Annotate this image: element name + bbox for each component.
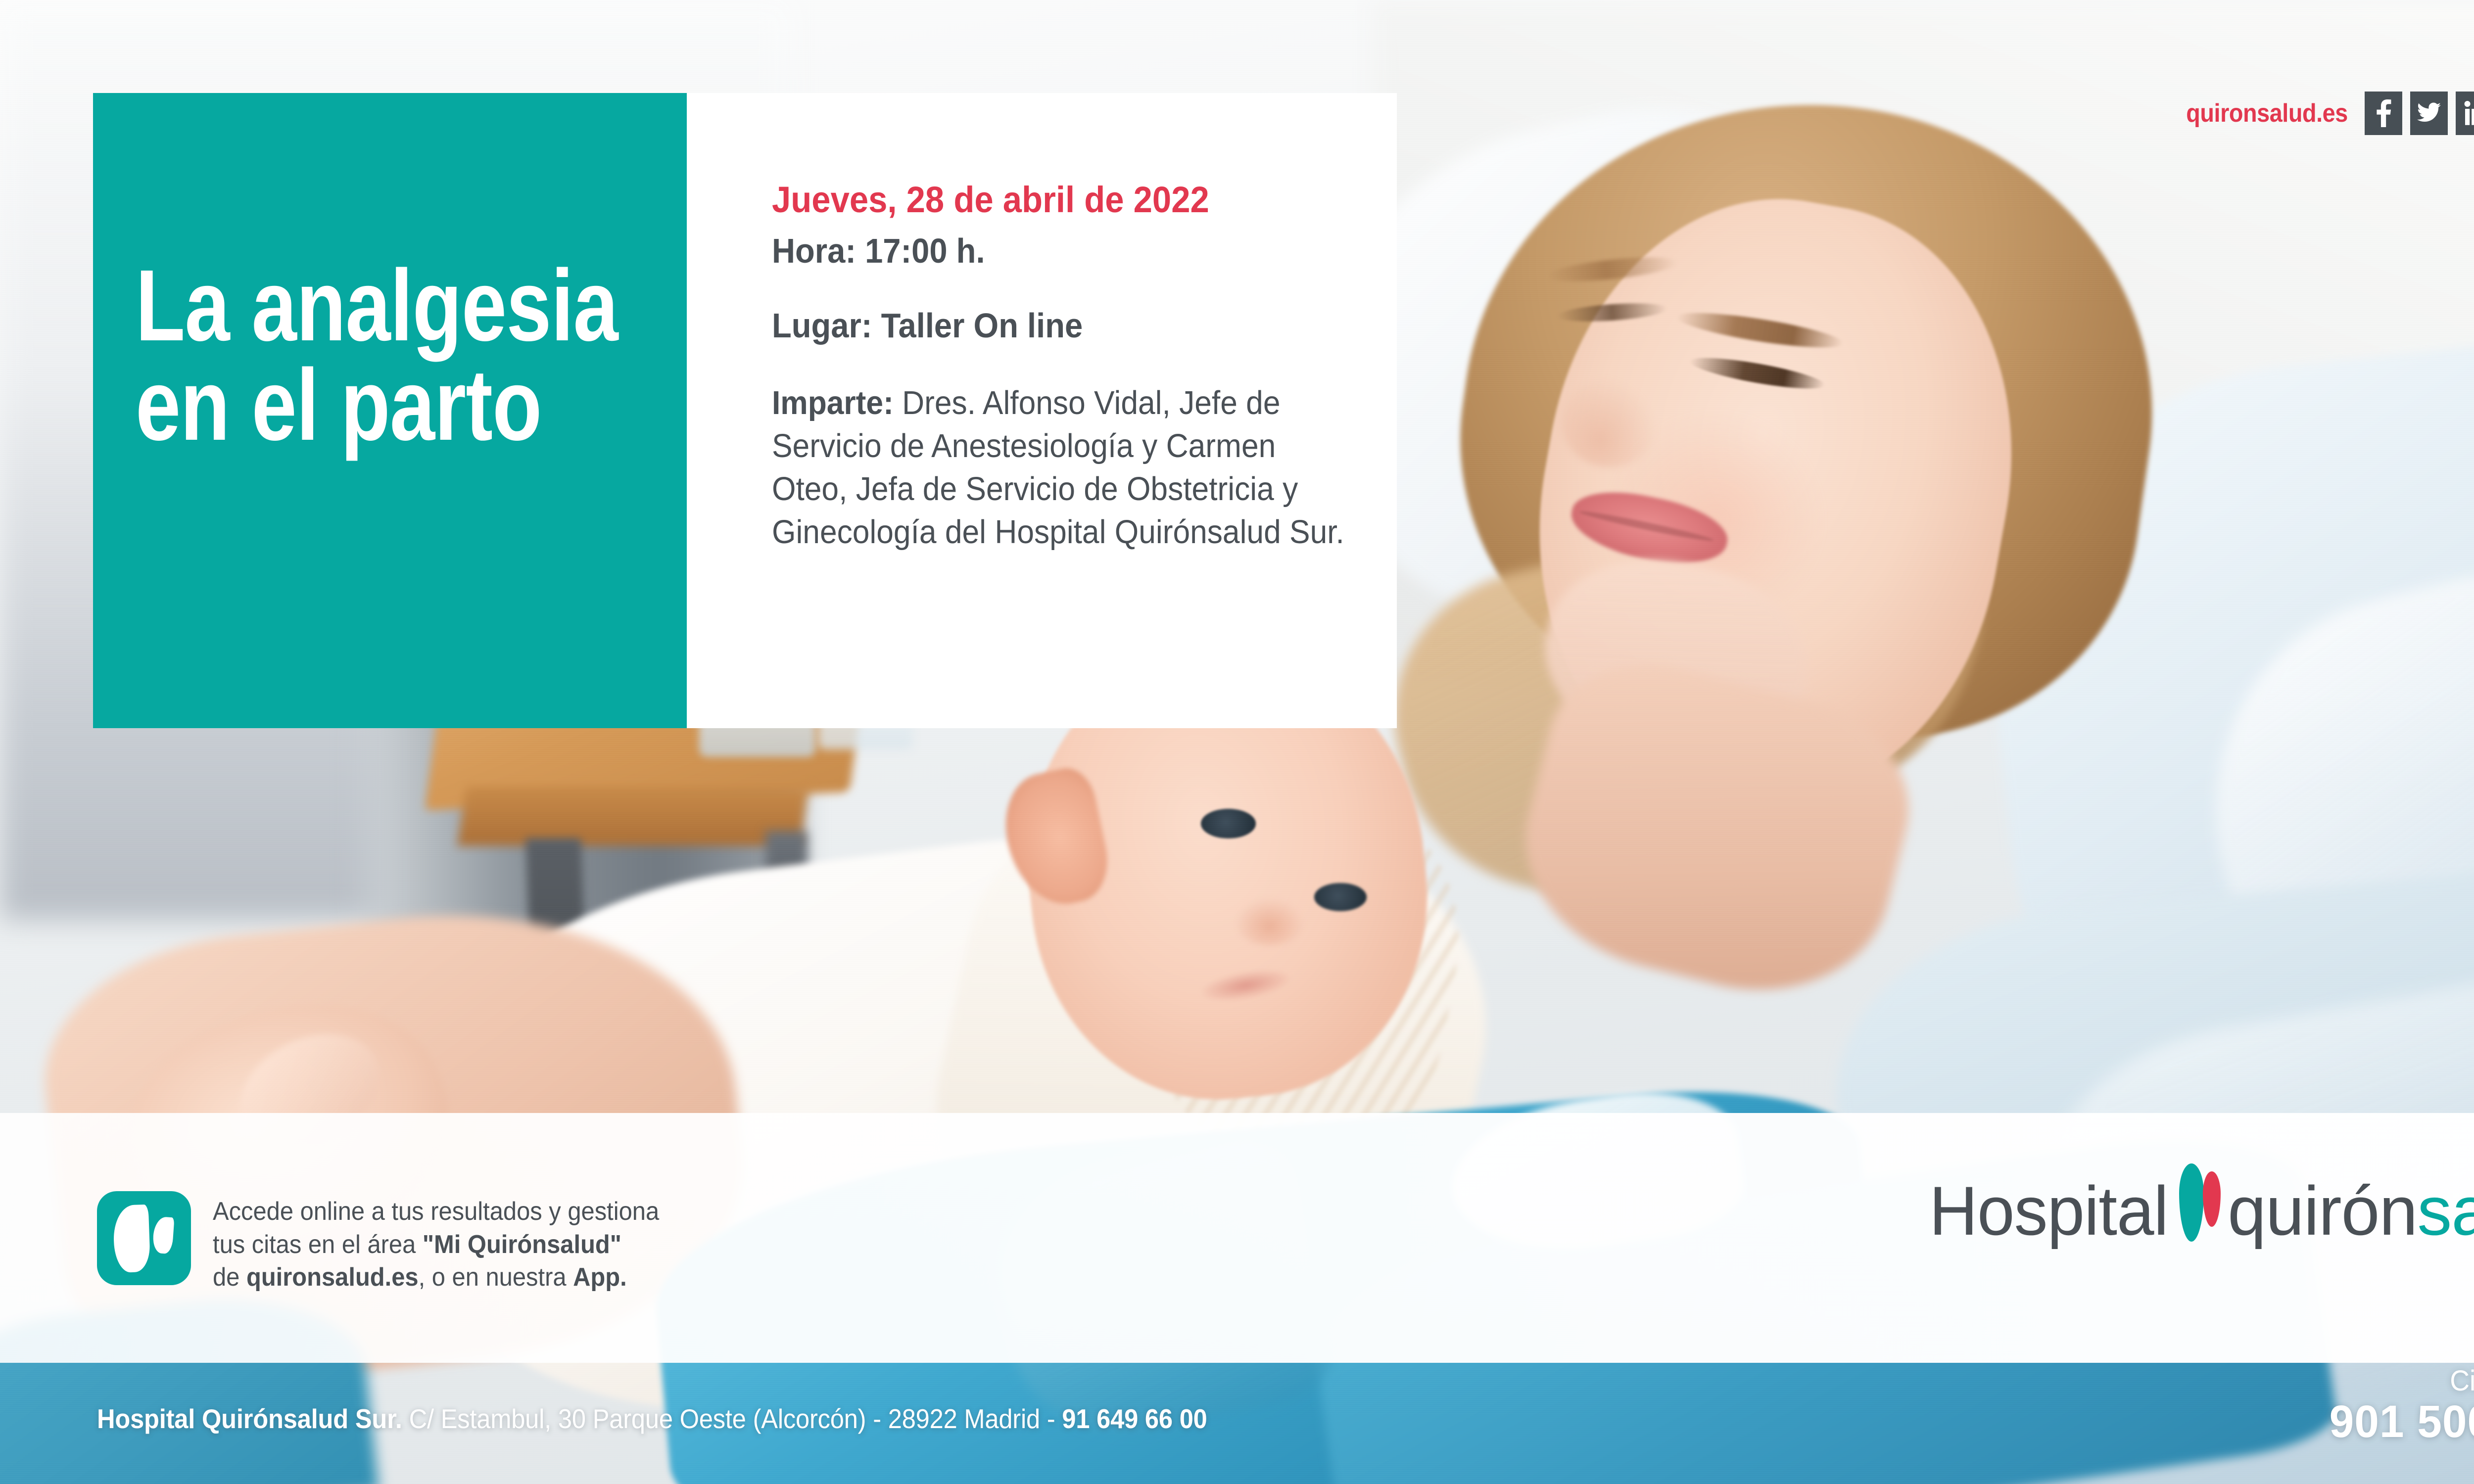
logo-word-quiron: quirón [2228, 1176, 2417, 1246]
app-promo-line-1: Accede online a tus resultados y gestion… [213, 1195, 659, 1228]
app-promo-block: Accede online a tus resultados y gestion… [97, 1191, 688, 1294]
photo-pillow-right [1964, 317, 2474, 1226]
photo-baby-mouth [1199, 965, 1292, 1007]
photo-hair-strand [1529, 360, 2033, 858]
event-time-value: 17:00 h. [865, 232, 985, 270]
app-promo-website: quironsalud.es [246, 1263, 419, 1292]
event-time-label: Hora: [772, 232, 856, 270]
photo-baby-eye-2 [1314, 883, 1367, 911]
title-line-1: La analgesia [136, 256, 576, 356]
app-promo-line-2: tus citas en el área "Mi Quirónsalud" [213, 1228, 659, 1261]
facebook-icon[interactable] [2365, 92, 2402, 135]
event-speakers-label: Imparte: [772, 384, 894, 421]
event-place-value: Taller On line [881, 306, 1083, 345]
leaf-red-shape [2203, 1171, 2221, 1227]
quironsalud-logo: Hospital quirón salud Sur [1922, 1162, 2474, 1300]
photo-mother-chin [1526, 539, 1825, 782]
footer-address-text: C/ Estambul, 30 Parque Oeste (Alcorcón) … [402, 1403, 1062, 1434]
app-promo-text: Accede online a tus resultados y gestion… [213, 1191, 659, 1294]
photo-table-leg-2 [765, 831, 808, 935]
logo-site-name: Sur [1954, 1258, 2474, 1300]
social-bar: quironsalud.es [2168, 92, 2474, 135]
title-line-2: en el parto [136, 356, 576, 455]
photo-mother-nose [1562, 378, 1657, 467]
app-promo-app-word: App. [573, 1263, 627, 1292]
photo-mother-eye [1688, 352, 1827, 395]
photo-mother-face [1496, 165, 2053, 830]
photo-mother-neck [1500, 643, 1931, 1020]
footer-address: Hospital Quirónsalud Sur. C/ Estambul, 3… [97, 1403, 1207, 1435]
photo-mother-brow-far [1546, 253, 1679, 286]
photo-baby-ear [995, 763, 1116, 914]
photo-mother-lips [1566, 481, 1733, 575]
photo-mother-brow [1675, 306, 1845, 355]
mi-quironsalud-app-icon[interactable] [97, 1191, 191, 1285]
app-promo-line-3-mid: , o en nuestra [419, 1263, 573, 1292]
event-date: Jueves, 28 de abril de 2022 [772, 180, 1309, 220]
logo-word-hospital: Hospital [1929, 1176, 2168, 1246]
event-place-label: Lugar: [772, 306, 872, 345]
quironsalud-leaf-icon [2179, 1162, 2225, 1242]
app-promo-line-2-pre: tus citas en el área [213, 1230, 423, 1259]
app-promo-area-name: "Mi Quirónsalud" [423, 1230, 621, 1259]
photo-baby-eye [1201, 809, 1256, 838]
promotional-banner: La analgesia en el parto Jueves, 28 de a… [0, 0, 2474, 1484]
event-speakers: Imparte: Dres. Alfonso Vidal, Jefe de Se… [772, 381, 1349, 554]
app-icon-petal-small [152, 1216, 174, 1254]
appointment-label: Cita previa [2335, 1366, 2474, 1396]
footer-hospital-name: Hospital Quirónsalud Sur. [97, 1403, 402, 1434]
photo-table-leg [525, 838, 585, 972]
photo-mother-eye-far [1557, 300, 1668, 325]
title-panel: La analgesia en el parto [93, 93, 687, 728]
website-url[interactable]: quironsalud.es [2186, 98, 2348, 128]
event-time: Hora: 17:00 h. [772, 232, 1309, 270]
footer-phone: 91 649 66 00 [1062, 1403, 1207, 1434]
event-info-panel: Jueves, 28 de abril de 2022 Hora: 17:00 … [687, 93, 1397, 728]
leaf-teal-shape [2179, 1163, 2204, 1242]
photo-hair-lower [1364, 527, 1776, 927]
app-promo-line-3: de quironsalud.es, o en nuestra App. [213, 1261, 659, 1294]
appointment-block: Cita previa 901 500 501 [2322, 1366, 2474, 1447]
linkedin-icon[interactable] [2456, 92, 2474, 135]
app-icon-petal-large [113, 1205, 151, 1273]
photo-mother-cheek [1610, 416, 1821, 623]
event-place: Lugar: Taller On line [772, 306, 1309, 345]
appointment-phone[interactable]: 901 500 501 [2330, 1396, 2474, 1447]
photo-mother-lip-line [1579, 508, 1714, 544]
photo-baby-nose [1235, 898, 1304, 945]
logo-wordmark-row: Hospital quirón salud [1922, 1162, 2474, 1246]
photo-table-edge [458, 787, 809, 846]
photo-pillow-fold [2169, 549, 2474, 1083]
app-promo-line-3-pre: de [213, 1263, 246, 1292]
photo-mother-hair [1425, 59, 2190, 772]
logo-word-salud: salud [2417, 1176, 2474, 1246]
twitter-icon[interactable] [2410, 92, 2448, 135]
